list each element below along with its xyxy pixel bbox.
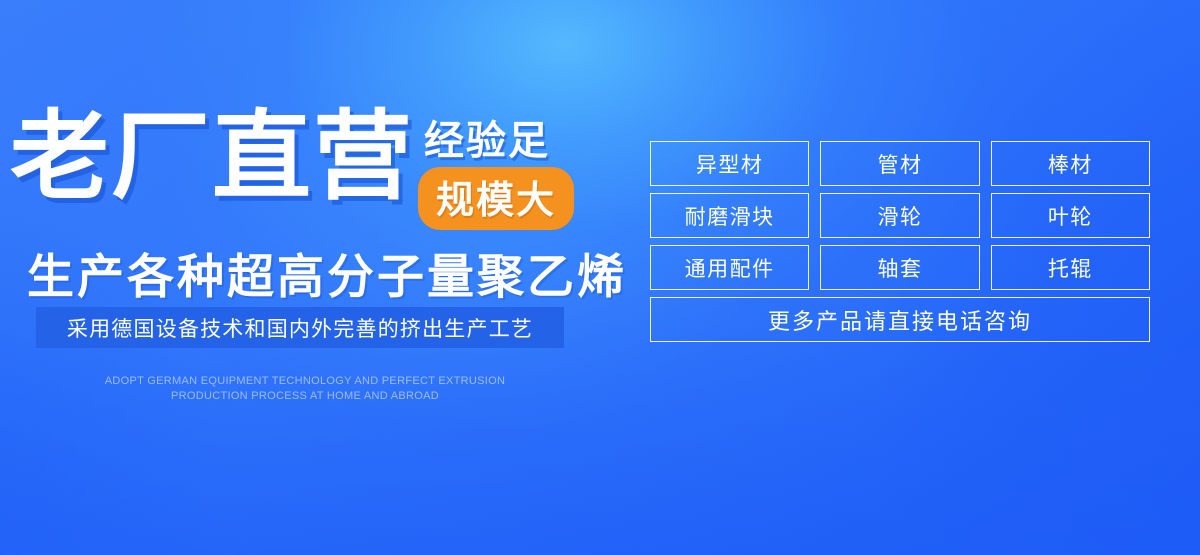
product-button-hualun[interactable]: 滑轮 xyxy=(820,193,979,238)
product-button-bangcai[interactable]: 棒材 xyxy=(991,141,1150,186)
badge-experience: 经验足 xyxy=(418,120,574,162)
product-row: 通用配件 轴套 托辊 xyxy=(650,245,1150,290)
english-caption-line-1: ADOPT GERMAN EQUIPMENT TECHNOLOGY AND PE… xyxy=(0,374,610,389)
product-button-tongyongpeijian[interactable]: 通用配件 xyxy=(650,245,809,290)
product-button-yixingcai[interactable]: 异型材 xyxy=(650,141,809,186)
more-products-button[interactable]: 更多产品请直接电话咨询 xyxy=(650,297,1150,342)
strapline-bar: 采用德国设备技术和国内外完善的挤出生产工艺 xyxy=(36,307,564,348)
banner-left-column: 老厂直营 经验足 规模大 生产各种超高分子量聚乙烯 采用德国设备技术和国内外完善… xyxy=(0,0,610,555)
strapline-text: 采用德国设备技术和国内外完善的挤出生产工艺 xyxy=(67,313,533,343)
product-button-label: 滑轮 xyxy=(877,201,922,231)
headline-badge-stack: 经验足 规模大 xyxy=(418,120,574,230)
product-button-yelun[interactable]: 叶轮 xyxy=(991,193,1150,238)
english-caption-line-2: PRODUCTION PROCESS AT HOME AND ABROAD xyxy=(0,389,610,404)
product-button-zhoutao[interactable]: 轴套 xyxy=(820,245,979,290)
more-products-label: 更多产品请直接电话咨询 xyxy=(768,304,1032,336)
product-button-label: 叶轮 xyxy=(1048,201,1093,231)
headline-subtitle: 生产各种超高分子量聚乙烯 xyxy=(27,238,627,307)
headline-row: 老厂直营 经验足 规模大 xyxy=(10,108,574,230)
product-button-label: 管材 xyxy=(877,149,922,179)
product-button-label: 耐磨滑块 xyxy=(685,201,775,231)
product-button-label: 异型材 xyxy=(696,149,764,179)
headline-main: 老厂直营 xyxy=(10,108,414,205)
badge-scale: 规模大 xyxy=(418,167,574,230)
english-caption: ADOPT GERMAN EQUIPMENT TECHNOLOGY AND PE… xyxy=(0,374,610,404)
product-row: 异型材 管材 棒材 xyxy=(650,141,1150,186)
product-button-tuogun[interactable]: 托辊 xyxy=(991,245,1150,290)
product-button-label: 托辊 xyxy=(1048,253,1093,283)
product-button-label: 通用配件 xyxy=(685,253,775,283)
product-row: 耐磨滑块 滑轮 叶轮 xyxy=(650,193,1150,238)
product-category-grid: 异型材 管材 棒材 耐磨滑块 滑轮 叶轮 通用配件 xyxy=(650,141,1150,342)
product-button-guancai[interactable]: 管材 xyxy=(820,141,979,186)
product-button-label: 棒材 xyxy=(1048,149,1093,179)
product-button-naimohuakuai[interactable]: 耐磨滑块 xyxy=(650,193,809,238)
promo-banner: 老厂直营 经验足 规模大 生产各种超高分子量聚乙烯 采用德国设备技术和国内外完善… xyxy=(0,0,1200,555)
product-button-label: 轴套 xyxy=(877,253,922,283)
